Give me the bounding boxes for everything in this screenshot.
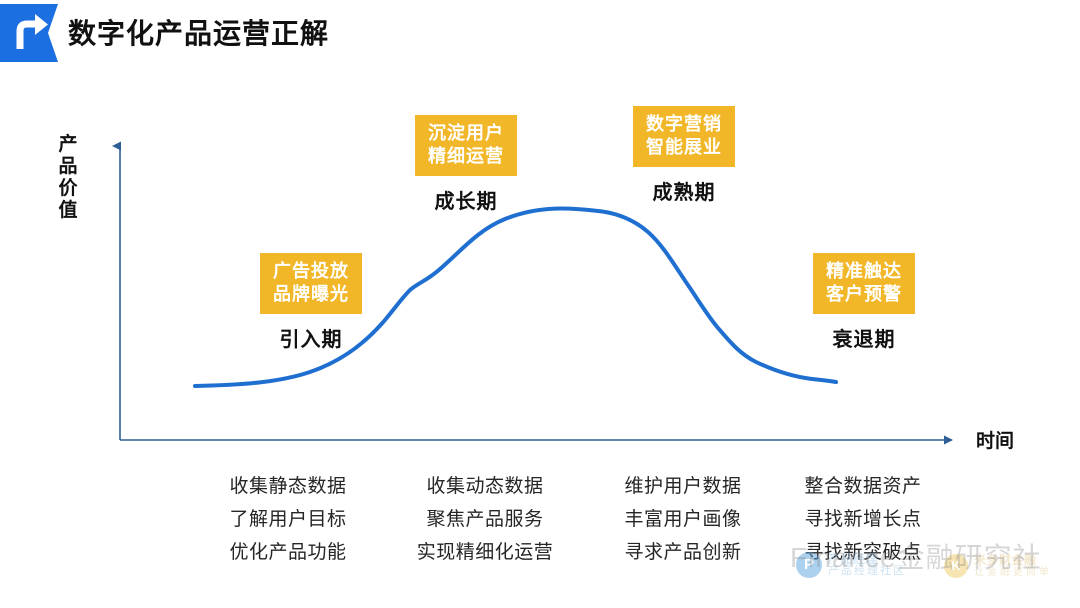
stage-badge-line: 数字营销 <box>646 113 722 136</box>
stage-badge-decline: 精准触达 客户预警 <box>813 253 915 314</box>
task-item: 收集动态数据 <box>380 470 590 503</box>
stage-badge-line: 精准触达 <box>826 260 902 283</box>
task-item: 丰富用户画像 <box>578 503 788 536</box>
task-item: 寻找新突破点 <box>758 536 968 569</box>
task-item: 整合数据资产 <box>758 470 968 503</box>
stage-annotation-decline: 精准触达 客户预警 衰退期 <box>798 253 930 352</box>
stage-name-growth: 成长期 <box>400 185 532 214</box>
stage-badge-introduction: 广告投放 品牌曝光 <box>260 253 362 314</box>
task-item: 寻找新增长点 <box>758 503 968 536</box>
task-item: 了解用户目标 <box>183 503 393 536</box>
task-item: 聚焦产品服务 <box>380 503 590 536</box>
task-item: 实现精细化运营 <box>380 536 590 569</box>
task-item: 寻求产品创新 <box>578 536 788 569</box>
task-column-maturity: 维护用户数据 丰富用户画像 寻求产品创新 <box>578 470 788 569</box>
page-title: 数字化产品运营正解 <box>68 12 329 52</box>
stage-annotation-growth: 沉淀用户 精细运营 成长期 <box>400 115 532 214</box>
stage-name-maturity: 成熟期 <box>618 176 750 205</box>
stage-badge-maturity: 数字营销 智能展业 <box>633 106 735 167</box>
stage-name-introduction: 引入期 <box>245 323 377 352</box>
stage-badge-growth: 沉淀用户 精细运营 <box>415 115 517 176</box>
stage-badge-line: 沉淀用户 <box>428 122 504 145</box>
stage-badge-line: 广告投放 <box>273 260 349 283</box>
stage-task-columns: 收集静态数据 了解用户目标 优化产品功能 收集动态数据 聚焦产品服务 实现精细化… <box>0 470 1080 600</box>
page-header: 数字化产品运营正解 <box>0 0 1080 62</box>
task-item: 优化产品功能 <box>183 536 393 569</box>
product-lifecycle-chart: 产品价值 时间 广告投放 品牌曝光 引入期 沉淀用户 精细运营 成长期 数字营销… <box>0 62 1080 482</box>
stage-name-decline: 衰退期 <box>798 323 930 352</box>
task-column-introduction: 收集静态数据 了解用户目标 优化产品功能 <box>183 470 393 569</box>
task-column-decline: 整合数据资产 寻找新增长点 寻找新突破点 <box>758 470 968 569</box>
brand-logo-icon <box>0 4 62 62</box>
stage-badge-line: 品牌曝光 <box>273 283 349 306</box>
stage-badge-line: 精细运营 <box>428 145 504 168</box>
y-axis-label: 产品价值 <box>56 134 80 222</box>
stage-annotation-introduction: 广告投放 品牌曝光 引入期 <box>245 253 377 352</box>
task-column-growth: 收集动态数据 聚焦产品服务 实现精细化运营 <box>380 470 590 569</box>
stage-annotation-maturity: 数字营销 智能展业 成熟期 <box>618 106 750 205</box>
task-item: 维护用户数据 <box>578 470 788 503</box>
stage-badge-line: 客户预警 <box>826 283 902 306</box>
stage-badge-line: 智能展业 <box>646 136 722 159</box>
task-item: 收集静态数据 <box>183 470 393 503</box>
x-axis-label: 时间 <box>976 426 1014 453</box>
